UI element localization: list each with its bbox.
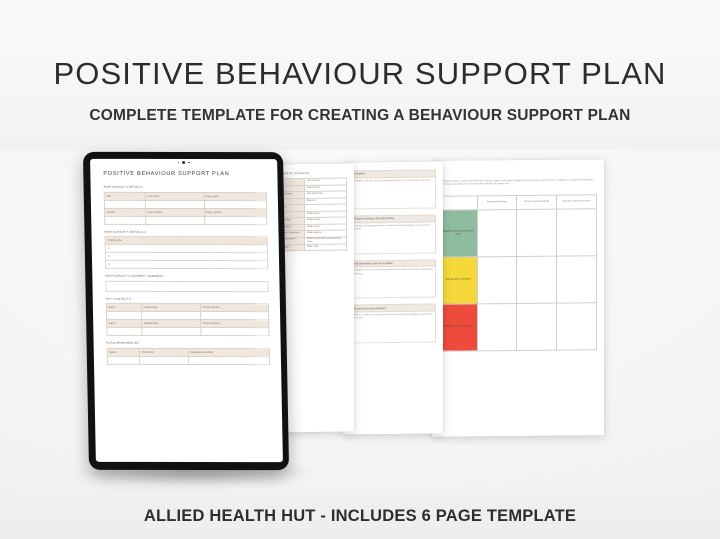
input-cell[interactable] (146, 216, 205, 224)
page1-title: POSITIVE BEHAVIOUR SUPPORT PLAN (103, 171, 266, 177)
table-row: Name Relationship Phone number (106, 303, 268, 311)
footer-band: ALLIED HEALTH HUT - INCLUDES 6 PAGE TEMP… (0, 495, 720, 539)
matrix-cell[interactable] (557, 209, 597, 256)
tablet-screen[interactable]: POSITIVE BEHAVIOUR SUPPORT PLAN PARTICIP… (90, 159, 283, 462)
input-cell[interactable] (201, 328, 269, 336)
section-heading-prepared: PLAN PREPARED BY (107, 341, 270, 345)
table-row: Gender Date of birth Place of birth (105, 208, 267, 216)
matrix-level-yellow: Warning signs of escalation (440, 257, 478, 304)
section-heading-contacts: KEY CONTACTS (106, 296, 269, 300)
section-heading-details2: PARTICIPANT'S DETAILS 2 (104, 229, 267, 233)
table-row: Name Profession Registration number (107, 348, 269, 356)
matrix-header-row: What the person does What the supports l… (440, 195, 597, 210)
strategy-block: Proactive strategies and skill building … (350, 214, 436, 254)
input-cell[interactable] (201, 312, 269, 320)
document-page-1: POSITIVE BEHAVIOUR SUPPORT PLAN PARTICIP… (90, 159, 281, 365)
col-firstname: First name (145, 192, 204, 200)
sensor-dot-icon (178, 162, 180, 164)
prepared-by-table: Name Profession Registration number (107, 347, 270, 364)
col-lastname: Last name (204, 192, 266, 200)
strategy-block: Early intervention and de-escalation Str… (350, 259, 436, 299)
sensor-dot-icon (188, 162, 190, 164)
col-name-2: Name (107, 319, 142, 327)
document-page-4[interactable]: Please list below a summary of behaviour… (432, 159, 604, 437)
matrix-cell[interactable] (477, 303, 517, 350)
matrix-cell[interactable] (477, 256, 517, 303)
priority-area-table: Priority area 1. 2. 3. (105, 236, 269, 269)
matrix-cell[interactable] (477, 209, 517, 256)
strategy-body[interactable]: Strategies to be used when the participa… (350, 267, 436, 299)
input-cell[interactable] (104, 200, 145, 208)
strategy-body[interactable]: What to do and how to respond in the eve… (350, 312, 436, 344)
footer-label: ALLIED HEALTH HUT - INCLUDES 6 PAGE TEMP… (0, 507, 720, 526)
table-row (104, 200, 266, 208)
document-stack: Please list below a summary of behaviour… (0, 140, 720, 480)
table-row: 2. (105, 252, 267, 260)
col-pob: Place of birth (204, 208, 266, 216)
page-title: POSITIVE BEHAVIOUR SUPPORT PLAN (0, 55, 720, 93)
matrix-cell[interactable] (517, 209, 557, 256)
strategy-block: Prevention Strategies to be put in place… (350, 170, 436, 210)
matrix-cell[interactable] (517, 256, 557, 303)
col-phone-2: Phone number (201, 320, 269, 328)
camera-lens-icon (182, 161, 185, 164)
priority-row-1[interactable]: 1. (105, 244, 267, 252)
table-row: 1. (105, 244, 267, 252)
col-registration: Registration number (188, 348, 269, 356)
document-page-3[interactable]: Prevention Strategies to be put in place… (343, 161, 443, 434)
input-cell[interactable] (107, 327, 142, 335)
col-name: Name (107, 348, 140, 356)
input-cell[interactable] (105, 216, 146, 224)
row-value[interactable]: What is the (305, 244, 347, 251)
matrix-level-green: Baseline & behaviour of concern absent (440, 210, 478, 257)
table-row (105, 216, 267, 224)
address-input[interactable] (105, 280, 268, 291)
input-cell[interactable] (205, 216, 267, 224)
matrix-corner-cell (440, 196, 478, 210)
matrix-row-escalation: Warning signs of escalation (440, 256, 597, 304)
matrix-col-3: What the support team can do (557, 195, 597, 209)
strategy-body[interactable]: Teaching new replacement skills to reduc… (350, 222, 436, 254)
input-cell[interactable] (142, 327, 201, 335)
page-subtitle: COMPLETE TEMPLATE FOR CREATING A BEHAVIO… (0, 106, 720, 126)
priority-row-2[interactable]: 2. (105, 252, 267, 260)
product-mockup-canvas: POSITIVE BEHAVIOUR SUPPORT PLAN COMPLETE… (0, 0, 720, 539)
matrix-cell[interactable] (557, 256, 597, 303)
header-band: POSITIVE BEHAVIOUR SUPPORT PLAN COMPLETE… (0, 0, 720, 150)
strategy-body[interactable]: Strategies to be put in place to prevent… (350, 177, 436, 209)
section-heading-address: PARTICIPANT'S CURRENT ADDRESS (105, 274, 268, 278)
col-dob: Date of birth (146, 208, 205, 216)
table-row (107, 327, 269, 335)
input-cell[interactable] (107, 356, 140, 364)
col-relationship-2: Relationship (142, 319, 201, 327)
section-heading-details: PARTICIPANT'S DETAILS (104, 185, 267, 189)
input-cell[interactable] (145, 200, 204, 208)
col-phone: Phone number (201, 304, 269, 312)
col-profession: Profession (140, 348, 188, 356)
input-cell[interactable] (142, 311, 201, 319)
matrix-cell[interactable] (517, 303, 557, 350)
camera-sensor-icon (178, 161, 190, 164)
matrix-intro-text: Please list below a summary of behaviour… (442, 179, 594, 187)
matrix-row-baseline: Baseline & behaviour of concern absent (440, 209, 597, 257)
col-relationship: Relationship (142, 303, 201, 311)
strategy-block: Reactive and crisis strategies What to d… (350, 304, 436, 344)
input-cell[interactable] (106, 311, 141, 319)
key-contacts-table: Name Relationship Phone number Name Rela… (106, 303, 270, 336)
matrix-row-crisis: Behaviour of concern occurring (440, 303, 597, 351)
matrix-level-red: Behaviour of concern occurring (440, 304, 478, 351)
matrix-col-2: What the supports look like (517, 195, 557, 209)
input-cell[interactable] (140, 356, 188, 364)
col-gender: Gender (105, 208, 146, 216)
input-cell[interactable] (188, 356, 269, 364)
table-row: Name Relationship Phone number (107, 319, 269, 327)
table-row (106, 311, 268, 319)
table-row (107, 356, 269, 364)
priority-header: Priority area (105, 236, 267, 244)
tablet-device: POSITIVE BEHAVIOUR SUPPORT PLAN PARTICIP… (83, 152, 289, 470)
participant-details-table: Title First name Last name Gender Date o… (104, 191, 268, 224)
priority-row-3[interactable]: 3. (106, 260, 268, 268)
escalation-matrix: What the person does What the supports l… (439, 194, 597, 351)
col-title: Title (104, 192, 145, 200)
input-cell[interactable] (204, 200, 266, 208)
table-row: 3. (106, 260, 268, 268)
matrix-cell[interactable] (557, 303, 597, 350)
matrix-col-1: What the person does (477, 195, 517, 209)
table-row: Priority area (105, 236, 267, 244)
table-row: Title First name Last name (104, 192, 266, 200)
col-name: Name (106, 303, 141, 311)
